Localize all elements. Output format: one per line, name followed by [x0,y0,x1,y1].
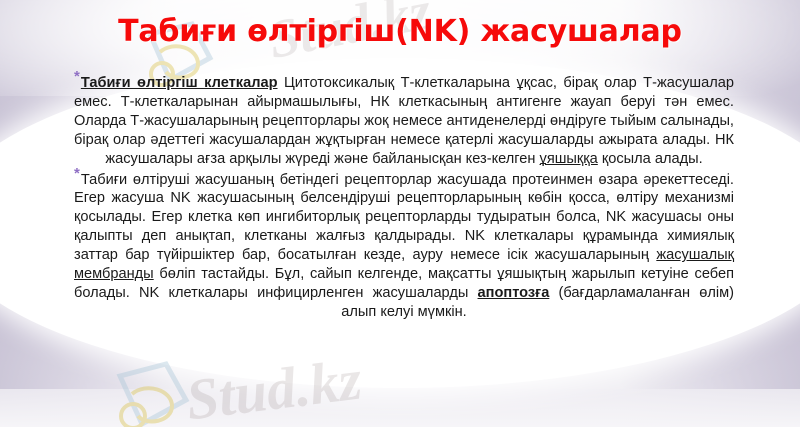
watermark-bottom: Stud.kz [183,346,366,427]
paragraph-1: *Табиғи өлтіргіш клеткалар Цитотоксикалы… [74,74,734,169]
paragraph-1-lead: Табиғи өлтіргіш клеткалар [81,75,278,91]
paragraph-2-text-a: Табиғи өлтіруші жасушаның бетіндегі реце… [74,172,734,264]
bullet-marker-1: * [74,68,80,85]
background-bottom-strip [0,389,800,427]
bullet-marker-2: * [74,165,80,182]
paragraph-1-text-b: қосыла алады. [598,151,703,167]
paragraph-2-apoptosis-term: апоптозға [478,285,550,301]
slide-body: *Табиғи өлтіргіш клеткалар Цитотоксикалы… [74,74,734,323]
slide-title: Табиғи өлтіргіш(NK) жасушалар [0,13,800,51]
paragraph-1-underlined-term: ұяшыққа [540,151,598,167]
presentation-slide: Stud.kz Stud.kz Табиғи өлтіргіш(NK) жасу… [0,0,800,427]
paragraph-2: *Табиғи өлтіруші жасушаның бетіндегі рец… [74,171,734,322]
watermark-logo-bottom-icon [108,356,208,427]
